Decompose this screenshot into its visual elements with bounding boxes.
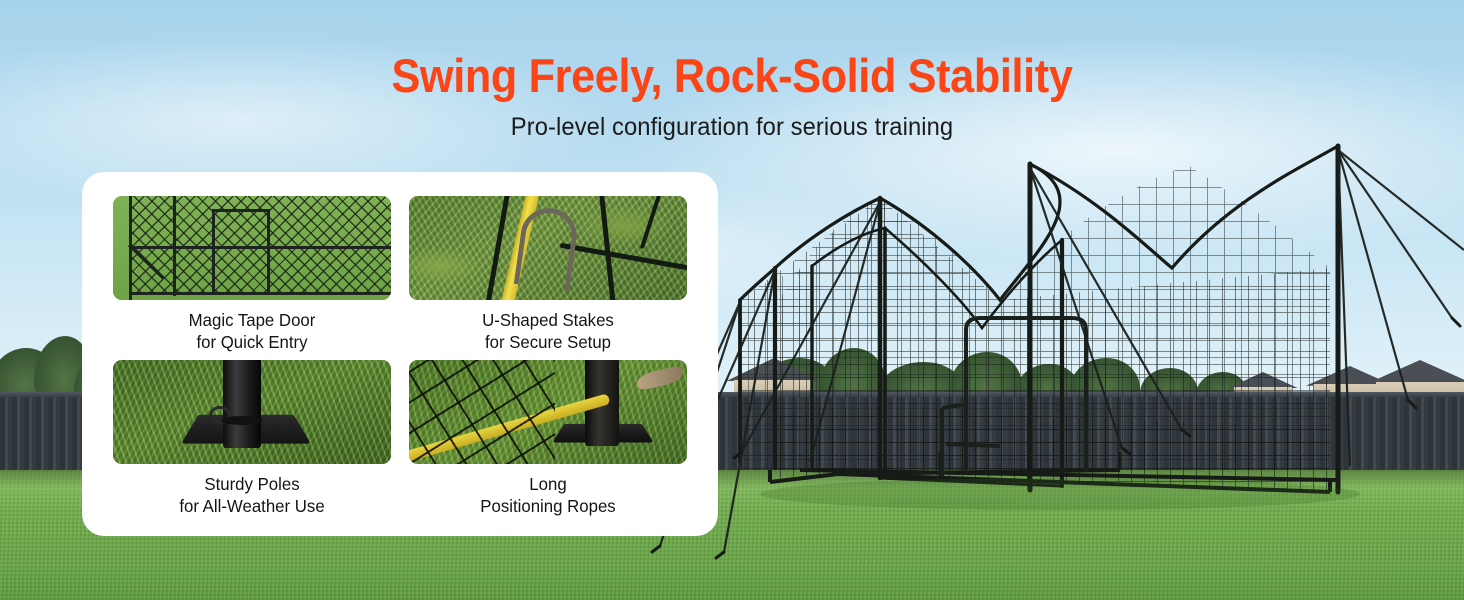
feature-caption-sturdy-poles: Sturdy Poles for All-Weather Use — [119, 473, 386, 517]
caption-line-1: U-Shaped Stakes — [415, 309, 682, 331]
caption-line-1: Sturdy Poles — [119, 473, 386, 495]
caption-line-2: for Secure Setup — [415, 331, 682, 353]
caption-line-2: for Quick Entry — [119, 331, 386, 353]
feature-item-u-shaped-stakes[interactable]: U-Shaped Stakes for Secure Setup — [409, 196, 687, 348]
feature-caption-u-shaped-stakes: U-Shaped Stakes for Secure Setup — [415, 309, 682, 353]
feature-grid: Magic Tape Door for Quick Entry U-Shaped… — [113, 196, 687, 512]
feature-image-sturdy-poles — [113, 360, 391, 464]
caption-line-2: for All-Weather Use — [119, 495, 386, 517]
page-subtitle: Pro-level configuration for serious trai… — [37, 113, 1428, 142]
feature-card: Magic Tape Door for Quick Entry U-Shaped… — [82, 172, 718, 536]
feature-item-sturdy-poles[interactable]: Sturdy Poles for All-Weather Use — [113, 360, 391, 512]
feature-caption-positioning-ropes: Long Positioning Ropes — [415, 473, 682, 517]
promo-banner: Swing Freely, Rock-Solid Stability Pro-l… — [0, 0, 1464, 600]
feature-image-u-shaped-stakes — [409, 196, 687, 300]
feature-caption-magic-tape-door: Magic Tape Door for Quick Entry — [119, 309, 386, 353]
page-title: Swing Freely, Rock-Solid Stability — [59, 50, 1406, 103]
feature-item-positioning-ropes[interactable]: Long Positioning Ropes — [409, 360, 687, 512]
feature-image-positioning-ropes — [409, 360, 687, 464]
caption-line-2: Positioning Ropes — [415, 495, 682, 517]
feature-item-magic-tape-door[interactable]: Magic Tape Door for Quick Entry — [113, 196, 391, 348]
feature-image-magic-tape-door — [113, 196, 391, 300]
caption-line-1: Magic Tape Door — [119, 309, 386, 331]
caption-line-1: Long — [415, 473, 682, 495]
